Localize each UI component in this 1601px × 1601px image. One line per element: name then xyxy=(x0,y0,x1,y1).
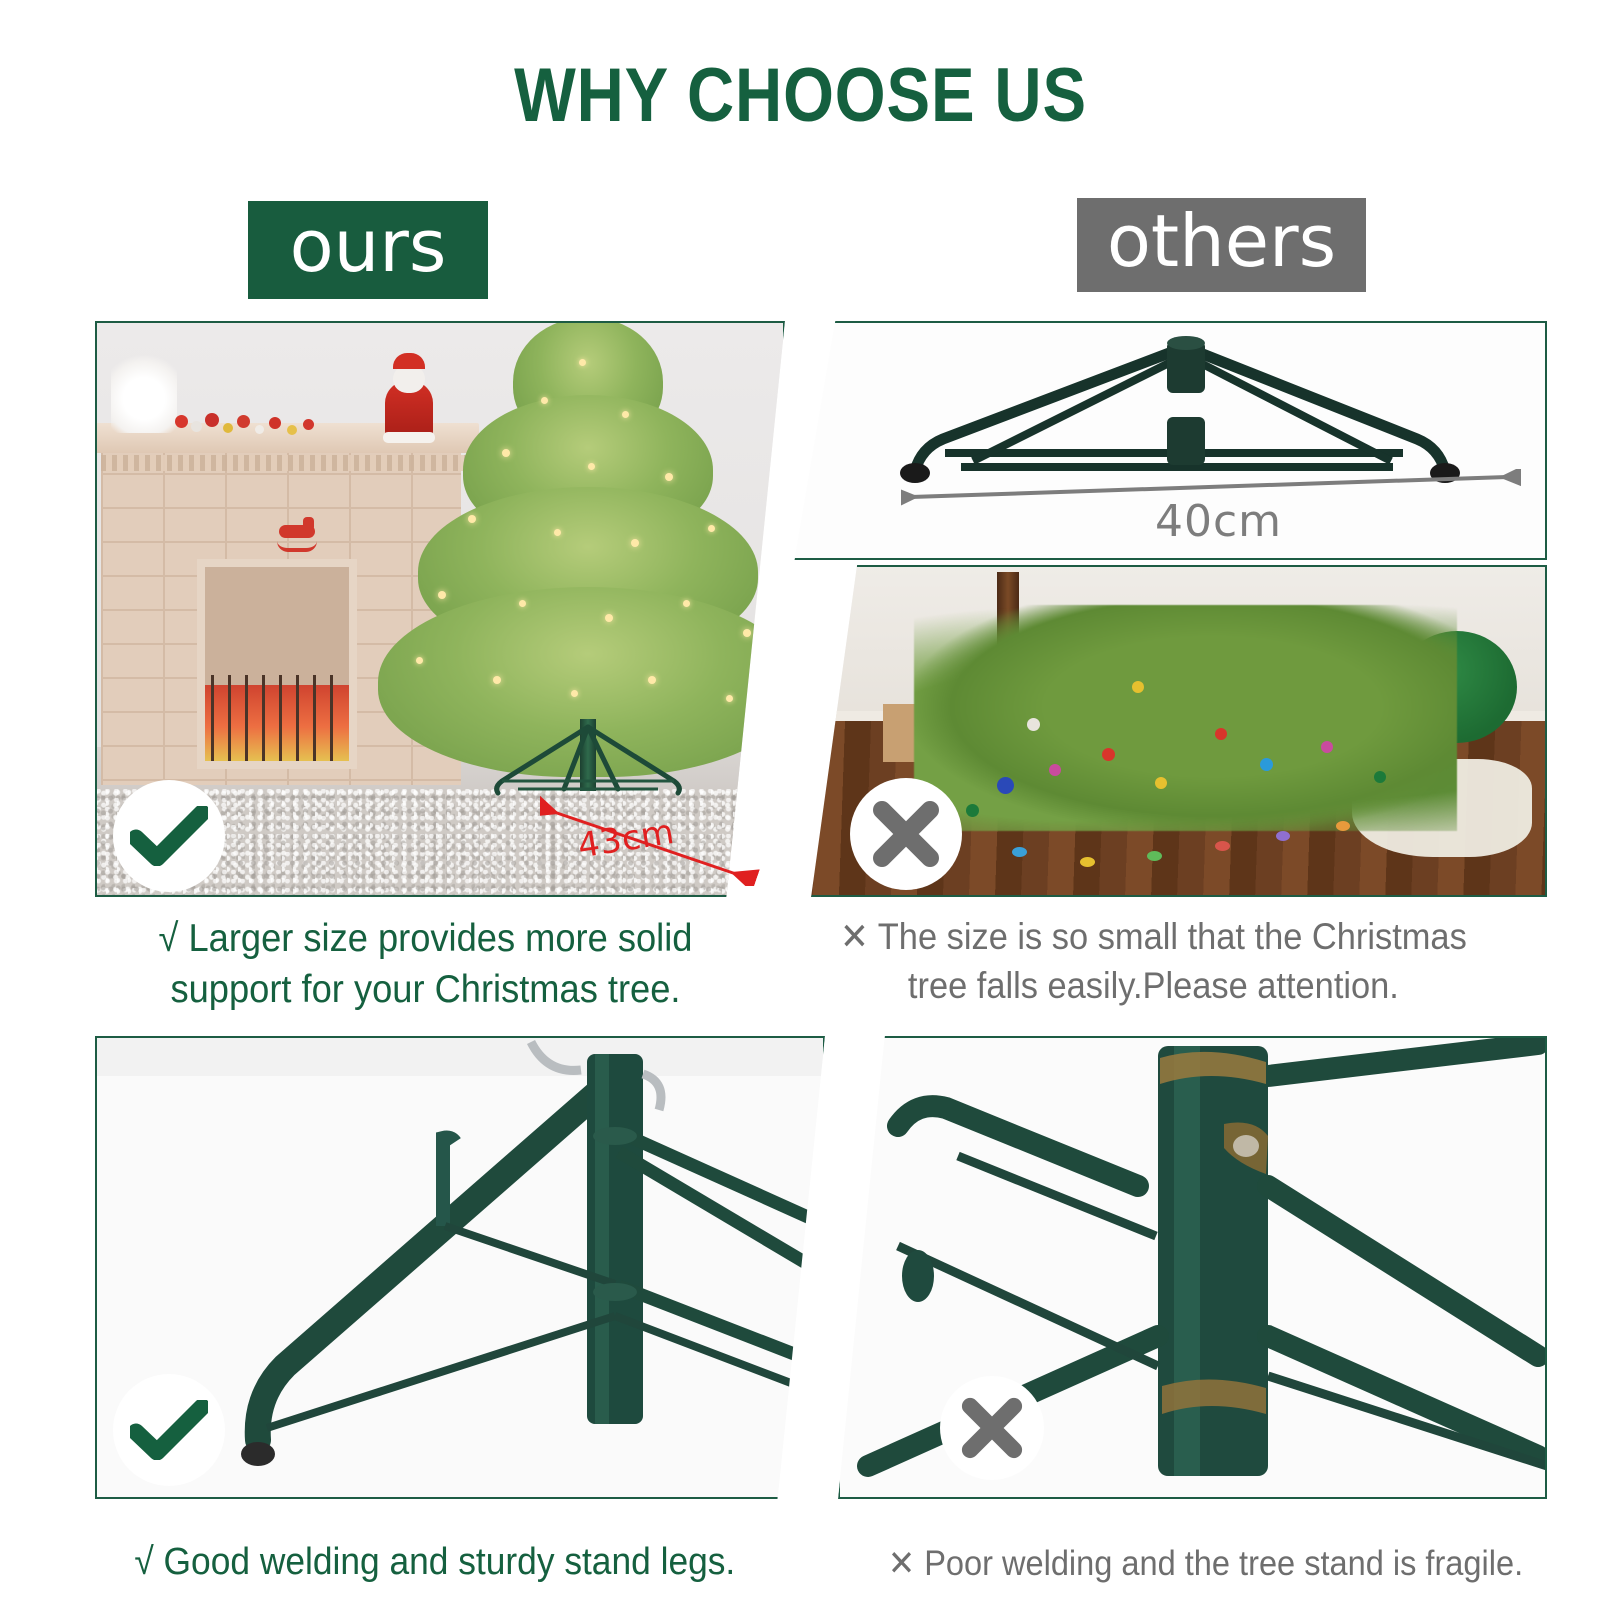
fireplace-opening xyxy=(197,559,357,769)
caption-others-size: ✕ The size is so small that the Christma… xyxy=(800,913,1507,1011)
close-icon xyxy=(961,1397,1023,1459)
caption-line-2: tree falls easily.Please attention. xyxy=(800,962,1507,1011)
badge-ours-label: ours xyxy=(290,210,447,282)
caption-ours-size: √ Larger size provides more solid suppor… xyxy=(100,913,751,1016)
white-mini-tree xyxy=(111,347,177,433)
badge-others-label: others xyxy=(1107,205,1336,277)
caption-line-1: ✕ Poor welding and the tree stand is fra… xyxy=(888,1544,1523,1583)
dimension-label-40cm: 40cm xyxy=(1155,496,1282,547)
fallen-tree xyxy=(914,605,1457,831)
caption-line-1: ✕ The size is so small that the Christma… xyxy=(840,916,1467,957)
check-badge-ours-top xyxy=(113,780,225,892)
rocking-horse-ornament xyxy=(277,517,317,553)
tree-lights xyxy=(373,321,785,789)
cross-badge-others-bottom xyxy=(940,1376,1044,1480)
check-badge-ours-bottom xyxy=(113,1374,225,1486)
caption-line-1: √ Good welding and sturdy stand legs. xyxy=(134,1541,735,1583)
tree-stand-legs xyxy=(478,723,698,797)
fire-grate xyxy=(211,675,343,761)
cross-badge-others-top xyxy=(850,778,962,890)
caption-others-welding: ✕ Poor welding and the tree stand is fra… xyxy=(880,1541,1531,1587)
caption-ours-welding: √ Good welding and sturdy stand legs. xyxy=(100,1537,770,1587)
badge-others: others xyxy=(1077,198,1366,292)
page-title: WHY CHOOSE US xyxy=(112,52,1489,139)
check-icon xyxy=(130,1400,208,1460)
close-icon xyxy=(872,800,940,868)
badge-ours: ours xyxy=(248,201,488,299)
infographic-page: WHY CHOOSE US ours others xyxy=(0,0,1601,1601)
caption-line-2: support for your Christmas tree. xyxy=(100,964,751,1015)
mantel-decorations xyxy=(105,401,335,443)
check-icon xyxy=(130,806,208,866)
artificial-christmas-tree xyxy=(373,321,785,789)
caption-line-1: √ Larger size provides more solid xyxy=(159,917,693,960)
